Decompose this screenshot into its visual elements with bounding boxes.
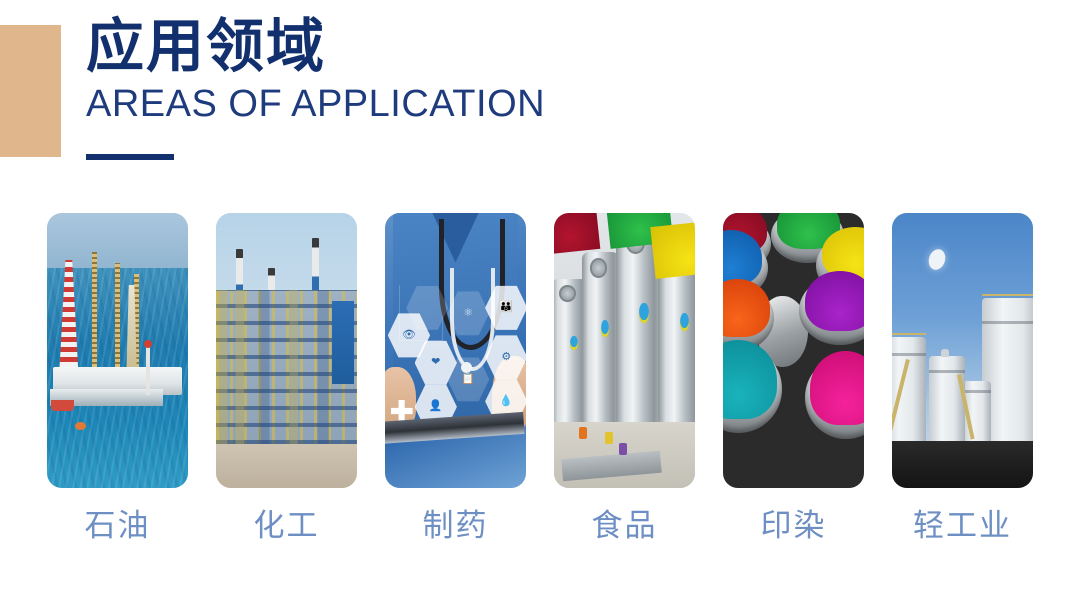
card-label-petroleum: 石油 <box>47 510 188 541</box>
application-card-chemical[interactable]: 化工 <box>216 213 357 541</box>
chemical-refinery-photo <box>216 213 357 488</box>
application-cards-row: 石油 化工 <box>47 213 1033 541</box>
card-label-pharmaceutical: 制药 <box>385 510 526 541</box>
application-card-light-industry[interactable]: 轻工业 <box>892 213 1033 541</box>
accent-block <box>0 25 61 157</box>
pharmaceutical-doctor-photo: 👁 ❤ 👤 ⚛ 📋 👪 ⚙ 💧 <box>385 213 526 488</box>
dye-powder-bowls-photo <box>723 213 864 488</box>
application-card-pharmaceutical[interactable]: 👁 ❤ 👤 ⚛ 📋 👪 ⚙ 💧 制药 <box>385 213 526 541</box>
card-label-food: 食品 <box>554 510 695 541</box>
card-label-dyeing: 印染 <box>723 510 864 541</box>
food-processing-tanks-photo <box>554 213 695 488</box>
card-label-light-industry: 轻工业 <box>892 510 1033 541</box>
application-card-petroleum[interactable]: 石油 <box>47 213 188 541</box>
application-card-food[interactable]: 食品 <box>554 213 695 541</box>
header: 应用领域 AREAS OF APPLICATION <box>86 14 986 123</box>
storage-tanks-sky-photo <box>892 213 1033 488</box>
offshore-oil-rig-photo <box>47 213 188 488</box>
page-title-english: AREAS OF APPLICATION <box>86 85 986 123</box>
slide-root: 应用领域 AREAS OF APPLICATION <box>0 0 1080 592</box>
title-underline-rule <box>86 154 174 160</box>
page-title-chinese: 应用领域 <box>86 14 986 81</box>
application-card-dyeing[interactable]: 印染 <box>723 213 864 541</box>
card-label-chemical: 化工 <box>216 510 357 541</box>
